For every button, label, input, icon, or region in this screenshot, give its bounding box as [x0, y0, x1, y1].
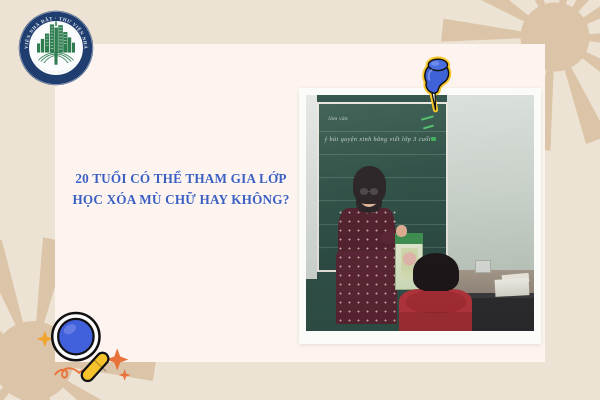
pushpin-icon — [412, 52, 460, 114]
page-title-line-1: 20 TUỔI CÓ THỂ THAM GIA LỚP — [70, 168, 292, 189]
photo-tone-overlay — [306, 95, 534, 331]
sparkle-icon — [106, 348, 130, 380]
page-title-line-2: HỌC XÓA MÙ CHỮ HAY KHÔNG? — [70, 189, 292, 210]
page-title: 20 TUỔI CÓ THỂ THAM GIA LỚP HỌC XÓA MÙ C… — [70, 168, 292, 211]
thuviennhadat-seal-logo: THƯ VIỆN NHÀ ĐẤT · THƯ VIỆN NHÀ ĐẤT www.… — [18, 10, 94, 86]
magnifying-glass-icon — [36, 298, 132, 390]
sparkle-icon — [37, 331, 53, 347]
photo-frame: làm văn ý bài quyện xinh bằng viết lớp 3… — [299, 88, 541, 344]
classroom-literacy-photo: làm văn ý bài quyện xinh bằng viết lớp 3… — [306, 95, 534, 331]
